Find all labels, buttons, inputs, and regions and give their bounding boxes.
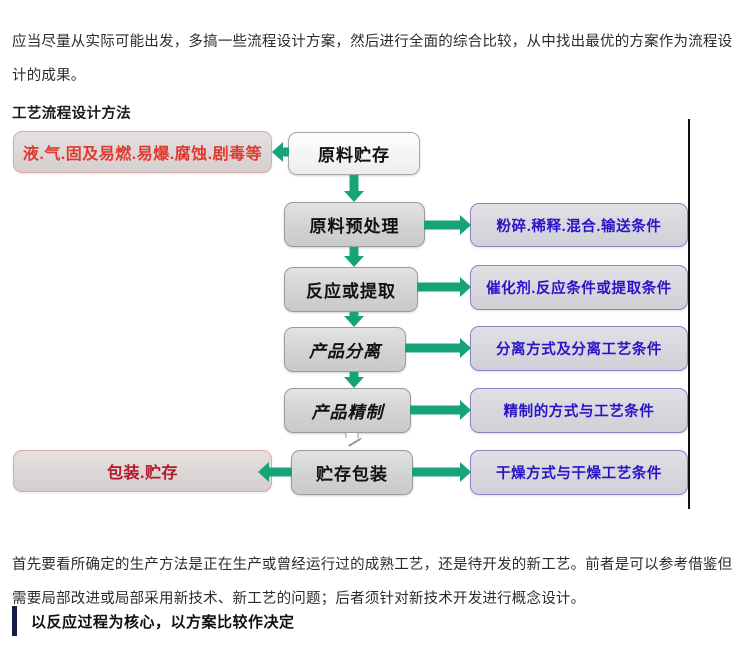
arrow-pretreatment-to-reaction [344, 247, 364, 267]
process-node-reaction-or-extraction: 反应或提取 [284, 267, 418, 312]
process-node-product-refining: 产品精制 [284, 388, 411, 433]
arrow-reaction-to-note [417, 277, 471, 297]
arrow-storage-packaging-to-package-store [258, 462, 292, 482]
arrow-storage-to-hazards [272, 142, 289, 162]
process-node-storage-packaging: 贮存包装 [291, 450, 413, 495]
arrow-refining-to-note [410, 400, 471, 420]
left-note-hazards: 液.气.固及易燃.易爆.腐蚀.剧毒等 [13, 131, 272, 173]
left-note-package-store: 包装.贮存 [13, 450, 272, 492]
pull-quote-text: 以反应过程为核心，以方案比较作决定 [31, 611, 295, 632]
arrow-storage-packaging-to-note [412, 462, 471, 482]
arrow-separation-to-note [405, 338, 471, 358]
pull-quote-accent-bar [12, 606, 17, 636]
arrow-storage-to-pretreatment [344, 175, 364, 202]
process-node-raw-material-pretreatment: 原料预处理 [284, 202, 425, 247]
right-note-reaction-conditions: 催化剂.反应条件或提取条件 [470, 265, 688, 310]
right-note-pretreatment-conditions: 粉碎.稀释.混合.输送条件 [470, 203, 688, 247]
arrow-reaction-to-separation [344, 312, 364, 327]
arrow-pretreatment-to-note [424, 215, 471, 235]
arrow-separation-to-refining [344, 372, 364, 388]
right-note-refining-conditions: 精制的方式与工艺条件 [470, 388, 688, 433]
process-flowchart: 液.气.固及易燃.易爆.腐蚀.剧毒等 包装.贮存 原料贮存 原料预处理 反应或提… [0, 119, 690, 509]
right-note-drying-conditions: 干燥方式与干燥工艺条件 [470, 450, 688, 495]
intro-paragraph: 应当尽量从实际可能出发，多搞一些流程设计方案，然后进行全面的综合比较，从中找出最… [12, 25, 734, 93]
arrow-refining-to-storage-packaging [342, 433, 362, 450]
process-node-product-separation: 产品分离 [284, 327, 406, 372]
pull-quote: 以反应过程为核心，以方案比较作决定 [12, 606, 295, 636]
process-node-raw-material-storage: 原料贮存 [288, 132, 420, 175]
right-note-separation-conditions: 分离方式及分离工艺条件 [470, 326, 688, 371]
